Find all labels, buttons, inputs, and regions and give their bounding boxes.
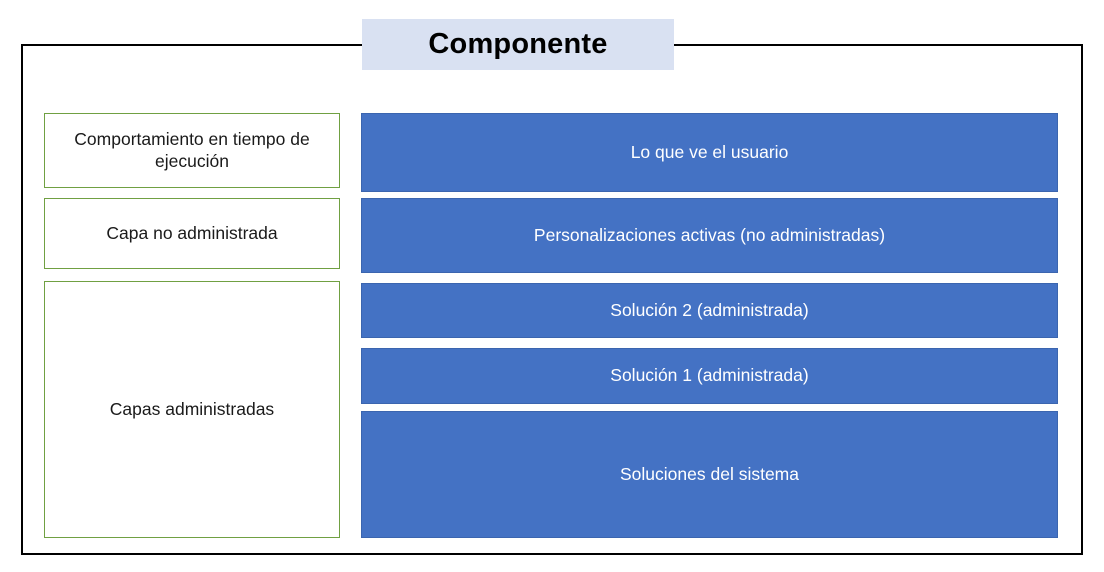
layer-bar-solution-2: Solución 2 (administrada)	[361, 283, 1058, 338]
label-box-runtime-behavior: Comportamiento en tiempo de ejecución	[44, 113, 340, 188]
layer-bar-solution-1-text: Solución 1 (administrada)	[596, 365, 822, 387]
label-box-managed-layers-text: Capas administradas	[100, 399, 284, 421]
page-title: Componente	[428, 30, 607, 59]
layer-bar-user-sees-text: Lo que ve el usuario	[617, 142, 803, 164]
diagram-canvas: Componente Comportamiento en tiempo de e…	[0, 0, 1104, 572]
layer-bar-active-customizations: Personalizaciones activas (no administra…	[361, 198, 1058, 273]
label-box-unmanaged-layer: Capa no administrada	[44, 198, 340, 269]
layer-bar-solution-2-text: Solución 2 (administrada)	[596, 300, 822, 322]
layer-bar-solution-1: Solución 1 (administrada)	[361, 348, 1058, 404]
layer-bar-active-customizations-text: Personalizaciones activas (no administra…	[520, 225, 899, 247]
layer-bar-user-sees: Lo que ve el usuario	[361, 113, 1058, 192]
label-box-managed-layers: Capas administradas	[44, 281, 340, 538]
label-box-unmanaged-layer-text: Capa no administrada	[96, 223, 287, 245]
layer-bar-system-solutions-text: Soluciones del sistema	[606, 464, 813, 486]
layer-bar-system-solutions: Soluciones del sistema	[361, 411, 1058, 538]
label-box-runtime-behavior-text: Comportamiento en tiempo de ejecución	[45, 129, 339, 173]
component-title-band: Componente	[362, 19, 674, 70]
